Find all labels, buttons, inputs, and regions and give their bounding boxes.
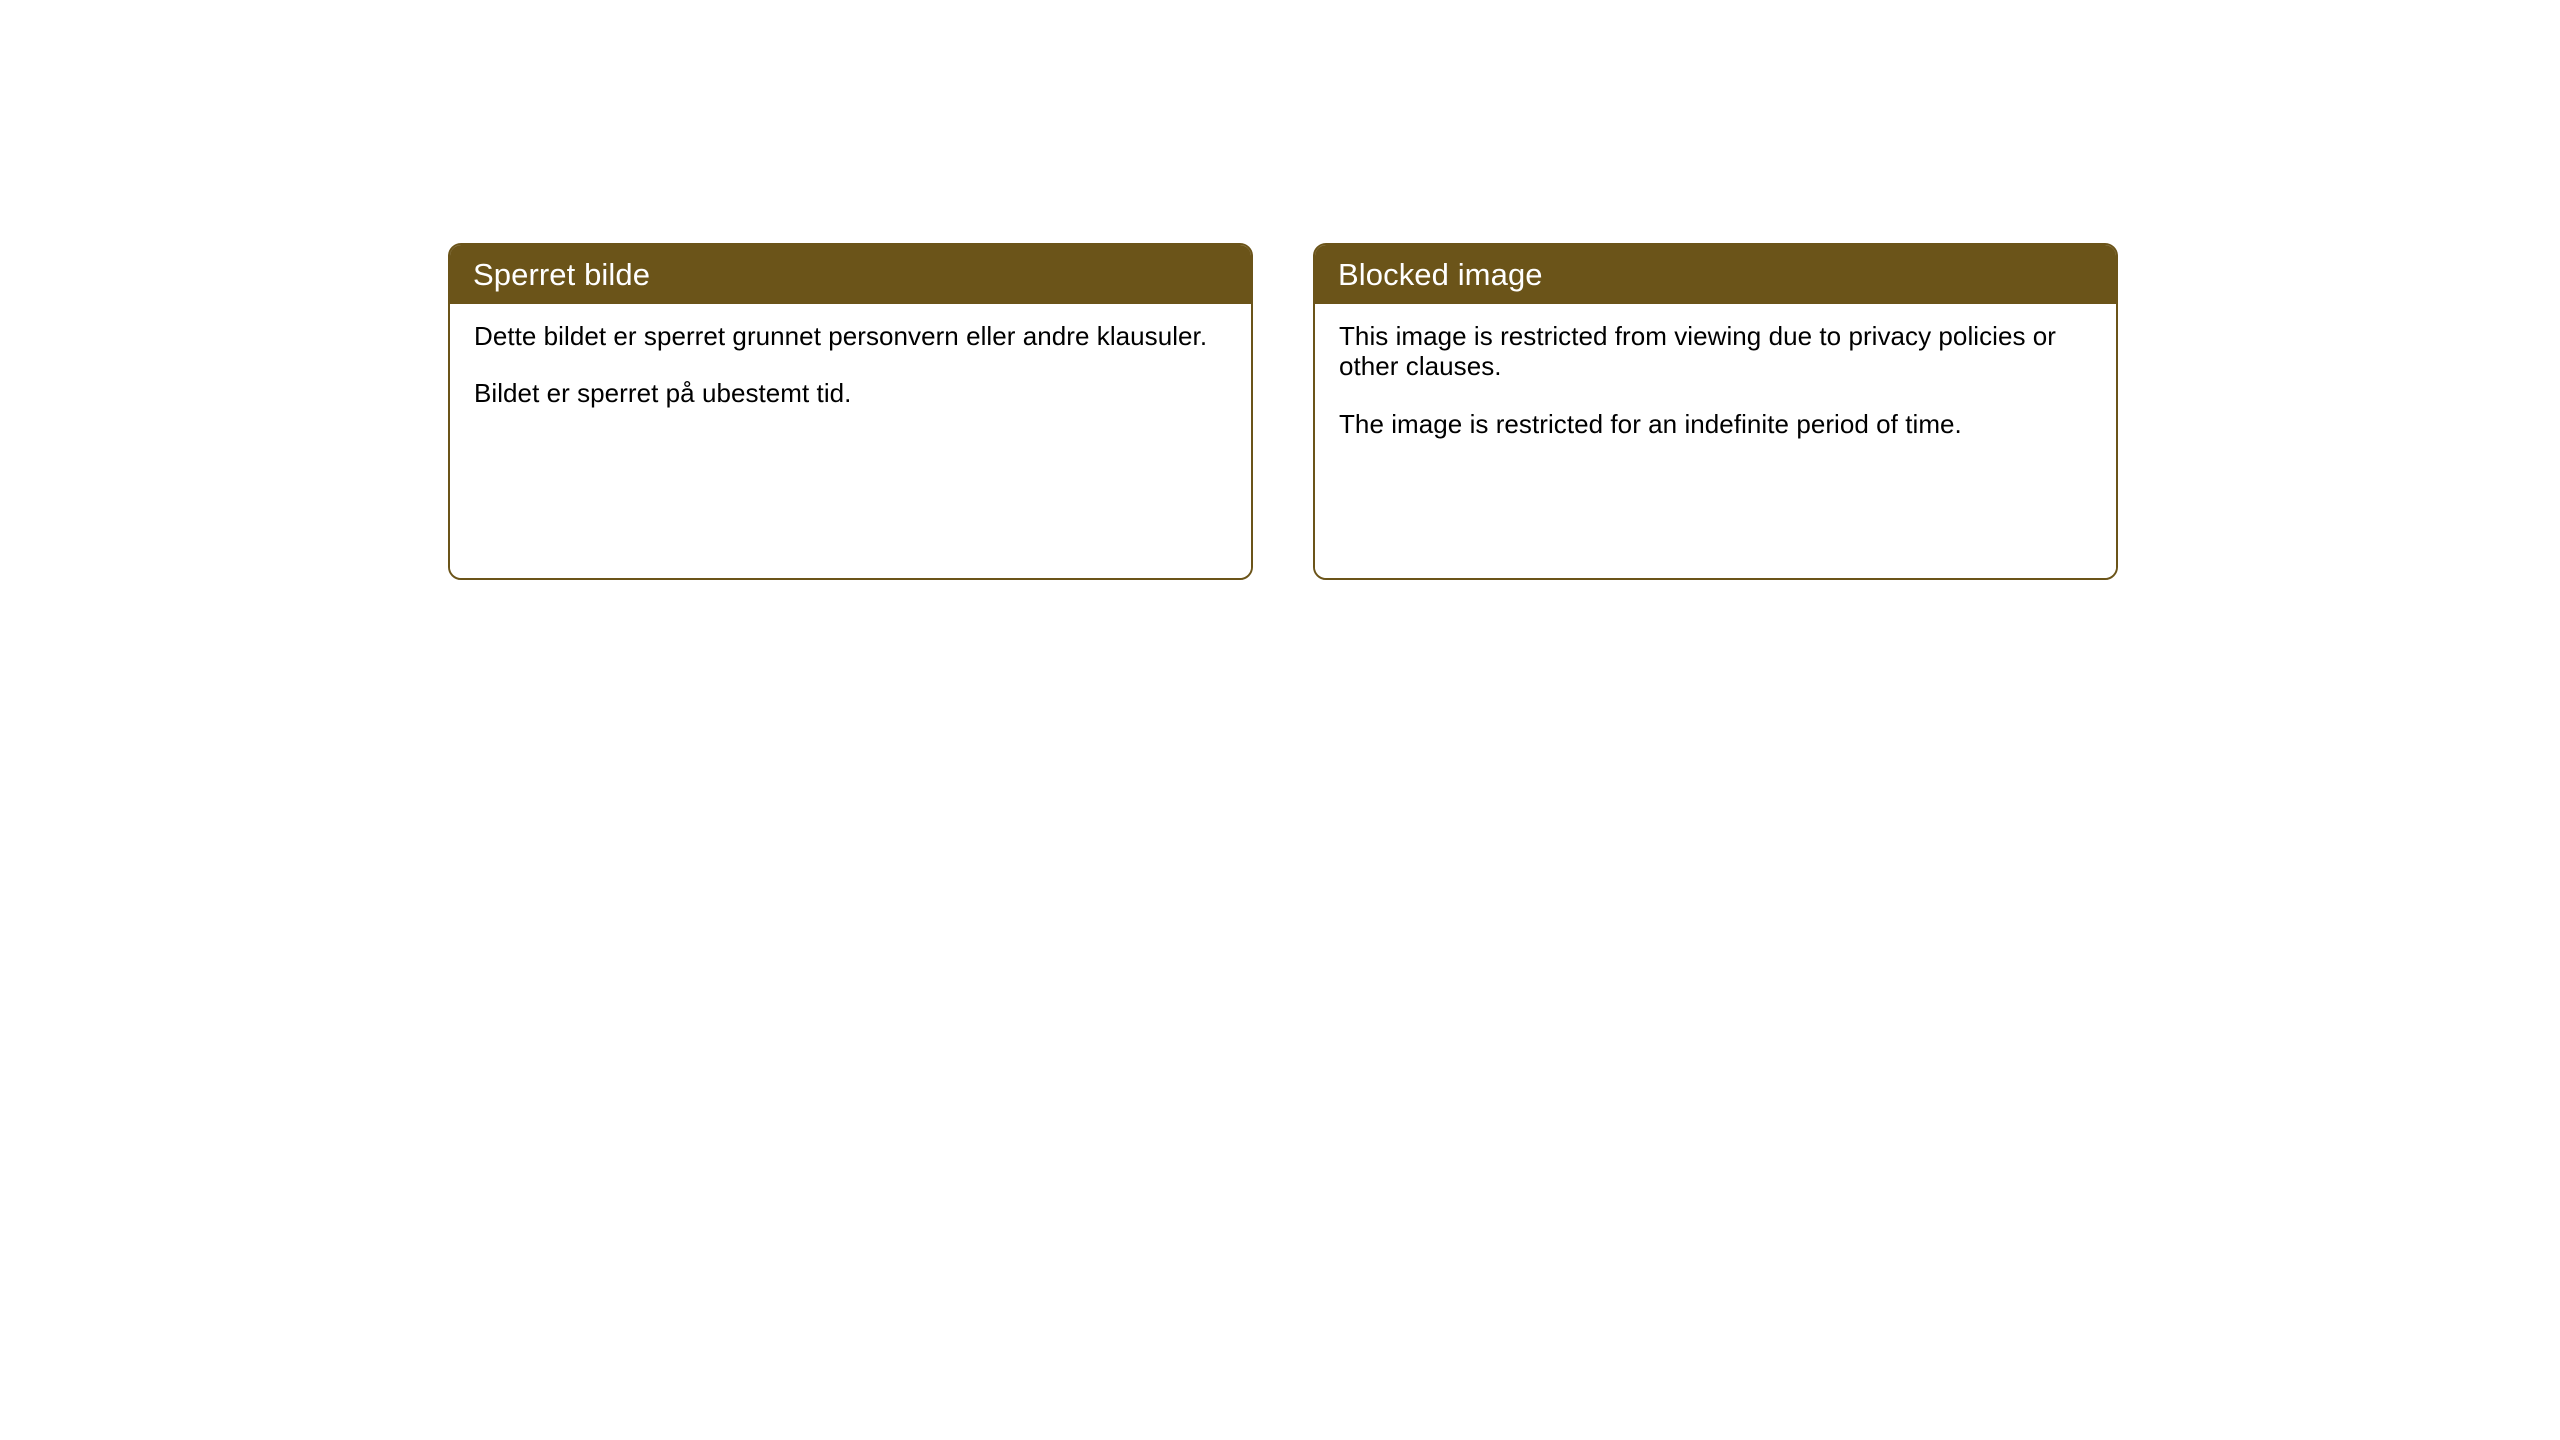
card-paragraph-reason-norwegian: Dette bildet er sperret grunnet personve… <box>474 321 1221 351</box>
blocked-image-notice-card-norwegian: Sperret bilde Dette bildet er sperret gr… <box>448 243 1253 580</box>
card-body-norwegian: Dette bildet er sperret grunnet personve… <box>450 304 1251 578</box>
card-title-english: Blocked image <box>1338 259 1543 290</box>
page-canvas: Sperret bilde Dette bildet er sperret gr… <box>0 0 2560 1440</box>
notice-card-row: Sperret bilde Dette bildet er sperret gr… <box>448 243 2118 580</box>
card-title-norwegian: Sperret bilde <box>473 259 650 290</box>
card-paragraph-duration-norwegian: Bildet er sperret på ubestemt tid. <box>474 378 1221 408</box>
blocked-image-notice-card-english: Blocked image This image is restricted f… <box>1313 243 2118 580</box>
card-header-english: Blocked image <box>1315 245 2116 304</box>
card-paragraph-reason-english: This image is restricted from viewing du… <box>1339 321 2086 382</box>
card-paragraph-duration-english: The image is restricted for an indefinit… <box>1339 409 2086 439</box>
card-body-english: This image is restricted from viewing du… <box>1315 304 2116 578</box>
card-header-norwegian: Sperret bilde <box>450 245 1251 304</box>
